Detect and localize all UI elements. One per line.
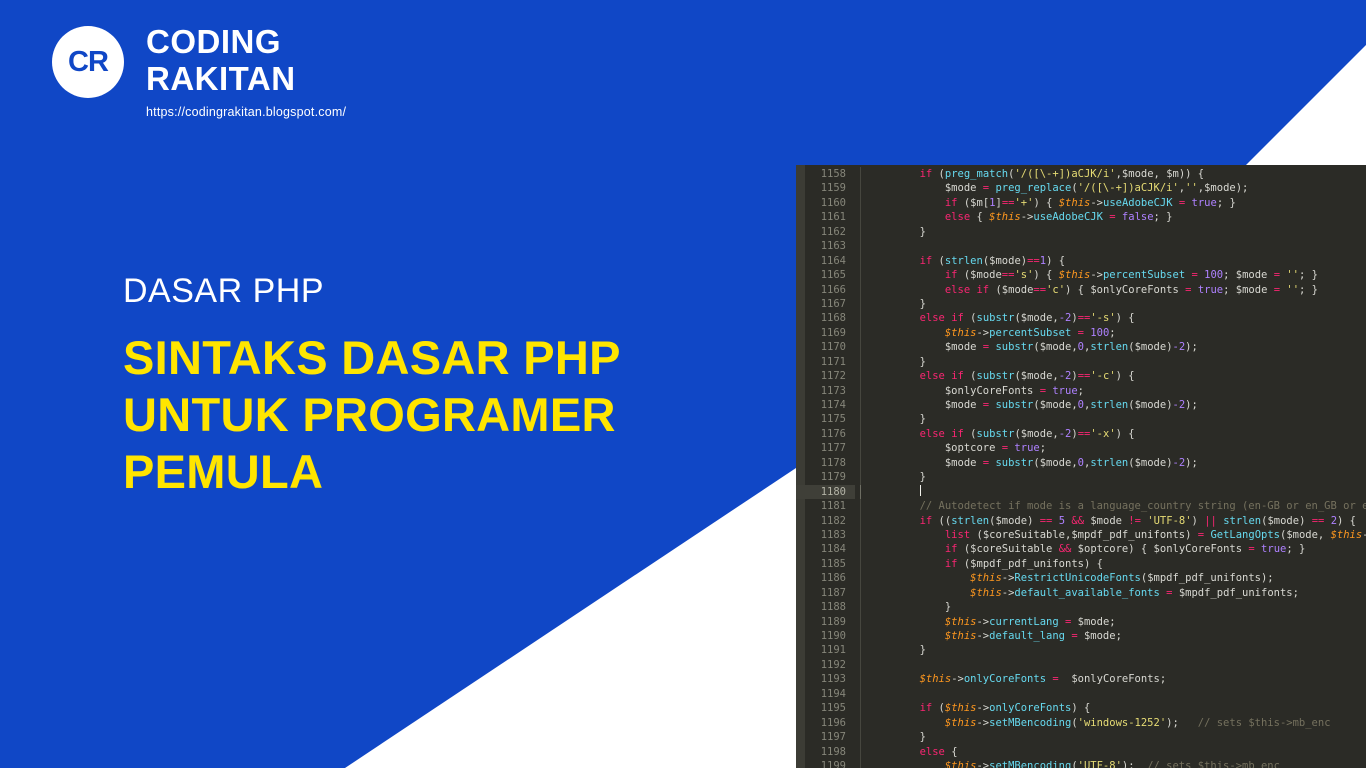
code-line[interactable]: 1167 }: [796, 297, 1366, 311]
code-text[interactable]: $this->setMBencoding('windows-1252'); //…: [869, 716, 1366, 730]
indent-guide: [855, 196, 869, 210]
line-number: 1193: [796, 672, 855, 686]
slide-canvas: CR CODING RAKITAN https://codingrakitan.…: [0, 0, 1366, 768]
code-line[interactable]: 1194: [796, 687, 1366, 701]
line-number: 1183: [796, 528, 855, 542]
code-line[interactable]: 1160 if ($m[1]=='+') { $this->useAdobeCJ…: [796, 196, 1366, 210]
line-number: 1160: [796, 196, 855, 210]
indent-guide: [855, 629, 869, 643]
line-number: 1164: [796, 254, 855, 268]
code-line[interactable]: 1170 $mode = substr($mode,0,strlen($mode…: [796, 340, 1366, 354]
indent-guide: [855, 687, 869, 701]
indent-guide: [855, 210, 869, 224]
page-title: SINTAKS DASAR PHP UNTUK PROGRAMER PEMULA: [123, 330, 763, 501]
line-number: 1175: [796, 412, 855, 426]
line-number: 1170: [796, 340, 855, 354]
line-number: 1169: [796, 326, 855, 340]
code-text[interactable]: $mode = preg_replace('/([\-+])aCJK/i',''…: [869, 181, 1366, 195]
code-text[interactable]: }: [869, 730, 1366, 744]
code-text[interactable]: if ((strlen($mode) == 5 && $mode != 'UTF…: [869, 514, 1366, 528]
code-text[interactable]: if ($mpdf_pdf_unifonts) {: [869, 557, 1366, 571]
code-line[interactable]: 1196 $this->setMBencoding('windows-1252'…: [796, 716, 1366, 730]
code-text[interactable]: $mode = substr($mode,0,strlen($mode)-2);: [869, 340, 1366, 354]
code-text[interactable]: }: [869, 355, 1366, 369]
code-text[interactable]: else { $this->useAdobeCJK = false; }: [869, 210, 1366, 224]
brand-logo: CR CODING RAKITAN https://codingrakitan.…: [52, 22, 346, 119]
code-text[interactable]: $mode = substr($mode,0,strlen($mode)-2);: [869, 456, 1366, 470]
indent-guide: [855, 398, 869, 412]
line-number: 1179: [796, 470, 855, 484]
code-text[interactable]: if (preg_match('/([\-+])aCJK/i',$mode, $…: [869, 167, 1366, 181]
indent-guide: [855, 571, 869, 585]
indent-guide: [855, 514, 869, 528]
code-line[interactable]: 1175 }: [796, 412, 1366, 426]
indent-guide: [855, 716, 869, 730]
code-line[interactable]: 1162 }: [796, 225, 1366, 239]
code-line[interactable]: 1182 if ((strlen($mode) == 5 && $mode !=…: [796, 514, 1366, 528]
indent-guide: [855, 528, 869, 542]
line-number: 1196: [796, 716, 855, 730]
indent-guide: [855, 586, 869, 600]
line-number: 1180: [796, 485, 855, 499]
code-line[interactable]: 1166 else if ($mode=='c') { $onlyCoreFon…: [796, 283, 1366, 297]
code-line[interactable]: 1164 if (strlen($mode)==1) {: [796, 254, 1366, 268]
brand-url: https://codingrakitan.blogspot.com/: [146, 105, 346, 119]
code-text[interactable]: else if ($mode=='c') { $onlyCoreFonts = …: [869, 283, 1366, 297]
code-line[interactable]: 1171 }: [796, 355, 1366, 369]
indent-guide: [855, 326, 869, 340]
code-text[interactable]: else {: [869, 745, 1366, 759]
code-line[interactable]: 1158 if (preg_match('/([\-+])aCJK/i',$mo…: [796, 167, 1366, 181]
line-number: 1171: [796, 355, 855, 369]
code-line[interactable]: 1165 if ($mode=='s') { $this->percentSub…: [796, 268, 1366, 282]
indent-guide: [855, 615, 869, 629]
code-text[interactable]: $this->setMBencoding('UTF-8'); // sets $…: [869, 759, 1366, 768]
code-line[interactable]: 1189 $this->currentLang = $mode;: [796, 615, 1366, 629]
code-editor-panel[interactable]: 1158 if (preg_match('/([\-+])aCJK/i',$mo…: [796, 165, 1366, 768]
line-number: 1161: [796, 210, 855, 224]
indent-guide: [855, 557, 869, 571]
code-line[interactable]: 1173 $onlyCoreFonts = true;: [796, 384, 1366, 398]
code-line[interactable]: 1178 $mode = substr($mode,0,strlen($mode…: [796, 456, 1366, 470]
logo-monogram-badge: CR: [52, 26, 124, 98]
code-line[interactable]: 1195 if ($this->onlyCoreFonts) {: [796, 701, 1366, 715]
indent-guide: [855, 239, 869, 253]
code-line[interactable]: 1174 $mode = substr($mode,0,strlen($mode…: [796, 398, 1366, 412]
code-line[interactable]: 1185 if ($mpdf_pdf_unifonts) {: [796, 557, 1366, 571]
line-number: 1176: [796, 427, 855, 441]
code-text[interactable]: $mode = substr($mode,0,strlen($mode)-2);: [869, 398, 1366, 412]
corner-triangle-top-right: [1246, 0, 1366, 165]
indent-guide: [855, 643, 869, 657]
code-text[interactable]: $this->default_lang = $mode;: [869, 629, 1366, 643]
line-number: 1191: [796, 643, 855, 657]
line-number: 1167: [796, 297, 855, 311]
indent-guide: [855, 600, 869, 614]
code-line[interactable]: 1180: [796, 485, 1366, 499]
line-number: 1187: [796, 586, 855, 600]
headline-kicker: DASAR PHP: [123, 274, 763, 308]
line-number: 1182: [796, 514, 855, 528]
indent-guide: [855, 470, 869, 484]
code-line[interactable]: 1191 }: [796, 643, 1366, 657]
code-line[interactable]: 1199 $this->setMBencoding('UTF-8'); // s…: [796, 759, 1366, 768]
code-text[interactable]: list ($coreSuitable,$mpdf_pdf_unifonts) …: [869, 528, 1366, 542]
indent-guide: [855, 384, 869, 398]
indent-guide: [855, 441, 869, 455]
indent-guide: [855, 759, 869, 768]
code-line[interactable]: 1159 $mode = preg_replace('/([\-+])aCJK/…: [796, 181, 1366, 195]
line-number: 1168: [796, 311, 855, 325]
code-line[interactable]: 1163: [796, 239, 1366, 253]
indent-guide: [855, 181, 869, 195]
code-text[interactable]: if ($m[1]=='+') { $this->useAdobeCJK = t…: [869, 196, 1366, 210]
code-text[interactable]: else if (substr($mode,-2)=='-c') {: [869, 369, 1366, 383]
indent-guide: [855, 369, 869, 383]
indent-guide: [855, 268, 869, 282]
indent-guide: [855, 283, 869, 297]
line-number: 1185: [796, 557, 855, 571]
indent-guide: [855, 412, 869, 426]
brand-text-block: CODING RAKITAN https://codingrakitan.blo…: [146, 22, 346, 119]
code-line[interactable]: 1197 }: [796, 730, 1366, 744]
indent-guide: [855, 672, 869, 686]
code-text[interactable]: }: [869, 643, 1366, 657]
indent-guide: [855, 658, 869, 672]
logo-monogram-text: CR: [68, 48, 108, 77]
code-line[interactable]: 1190 $this->default_lang = $mode;: [796, 629, 1366, 643]
code-text[interactable]: $this->default_available_fonts = $mpdf_p…: [869, 586, 1366, 600]
code-text[interactable]: $this->onlyCoreFonts = $onlyCoreFonts;: [869, 672, 1366, 686]
code-line[interactable]: 1198 else {: [796, 745, 1366, 759]
code-line-list: 1158 if (preg_match('/([\-+])aCJK/i',$mo…: [796, 167, 1366, 768]
code-text[interactable]: [869, 658, 1366, 672]
code-line[interactable]: 1172 else if (substr($mode,-2)=='-c') {: [796, 369, 1366, 383]
indent-guide: [855, 311, 869, 325]
line-number: 1158: [796, 167, 855, 181]
indent-guide: [855, 254, 869, 268]
line-number: 1178: [796, 456, 855, 470]
code-text[interactable]: $onlyCoreFonts = true;: [869, 384, 1366, 398]
line-number: 1177: [796, 441, 855, 455]
code-text[interactable]: if ($coreSuitable && $optcore) { $onlyCo…: [869, 542, 1366, 556]
code-text[interactable]: [869, 239, 1366, 253]
indent-guide: [855, 485, 869, 499]
indent-guide: [855, 340, 869, 354]
line-number: 1163: [796, 239, 855, 253]
indent-guide: [855, 225, 869, 239]
indent-guide: [855, 297, 869, 311]
code-line[interactable]: 1169 $this->percentSubset = 100;: [796, 326, 1366, 340]
line-number: 1189: [796, 615, 855, 629]
indent-guide: [855, 355, 869, 369]
code-line[interactable]: 1179 }: [796, 470, 1366, 484]
code-line[interactable]: 1183 list ($coreSuitable,$mpdf_pdf_unifo…: [796, 528, 1366, 542]
indent-guide: [855, 499, 869, 513]
code-line[interactable]: 1161 else { $this->useAdobeCJK = false; …: [796, 210, 1366, 224]
line-number: 1197: [796, 730, 855, 744]
line-number: 1194: [796, 687, 855, 701]
code-text[interactable]: $this->percentSubset = 100;: [869, 326, 1366, 340]
line-number: 1195: [796, 701, 855, 715]
code-text[interactable]: }: [869, 412, 1366, 426]
line-number: 1181: [796, 499, 855, 513]
brand-name: CODING RAKITAN: [146, 24, 346, 98]
line-number: 1188: [796, 600, 855, 614]
code-line[interactable]: 1188 }: [796, 600, 1366, 614]
line-number: 1199: [796, 759, 855, 768]
code-text[interactable]: if (strlen($mode)==1) {: [869, 254, 1366, 268]
code-line[interactable]: 1177 $optcore = true;: [796, 441, 1366, 455]
indent-guide: [855, 456, 869, 470]
code-text[interactable]: [869, 485, 1366, 499]
headline-block: DASAR PHP SINTAKS DASAR PHP UNTUK PROGRA…: [123, 274, 763, 501]
code-text[interactable]: else if (substr($mode,-2)=='-s') {: [869, 311, 1366, 325]
code-text[interactable]: }: [869, 297, 1366, 311]
code-text[interactable]: if ($this->onlyCoreFonts) {: [869, 701, 1366, 715]
line-number: 1173: [796, 384, 855, 398]
line-number: 1190: [796, 629, 855, 643]
code-line[interactable]: 1184 if ($coreSuitable && $optcore) { $o…: [796, 542, 1366, 556]
code-line[interactable]: 1186 $this->RestrictUnicodeFonts($mpdf_p…: [796, 571, 1366, 585]
code-line[interactable]: 1168 else if (substr($mode,-2)=='-s') {: [796, 311, 1366, 325]
line-number: 1166: [796, 283, 855, 297]
indent-guide: [855, 542, 869, 556]
indent-guide: [855, 745, 869, 759]
code-line[interactable]: 1181 // Autodetect if mode is a language…: [796, 499, 1366, 513]
code-line[interactable]: 1176 else if (substr($mode,-2)=='-x') {: [796, 427, 1366, 441]
code-line[interactable]: 1192: [796, 658, 1366, 672]
line-number: 1165: [796, 268, 855, 282]
code-text[interactable]: [869, 687, 1366, 701]
code-text[interactable]: }: [869, 600, 1366, 614]
text-caret: [920, 485, 921, 496]
line-number: 1172: [796, 369, 855, 383]
code-line[interactable]: 1187 $this->default_available_fonts = $m…: [796, 586, 1366, 600]
line-number: 1162: [796, 225, 855, 239]
indent-guide: [855, 167, 869, 181]
code-text[interactable]: }: [869, 470, 1366, 484]
line-number: 1192: [796, 658, 855, 672]
code-line[interactable]: 1193 $this->onlyCoreFonts = $onlyCoreFon…: [796, 672, 1366, 686]
indent-guide: [855, 701, 869, 715]
line-number: 1186: [796, 571, 855, 585]
line-number: 1174: [796, 398, 855, 412]
indent-guide: [855, 427, 869, 441]
code-text[interactable]: $this->RestrictUnicodeFonts($mpdf_pdf_un…: [869, 571, 1366, 585]
code-text[interactable]: }: [869, 225, 1366, 239]
code-text[interactable]: else if (substr($mode,-2)=='-x') {: [869, 427, 1366, 441]
code-text[interactable]: $this->currentLang = $mode;: [869, 615, 1366, 629]
code-text[interactable]: $optcore = true;: [869, 441, 1366, 455]
code-text[interactable]: // Autodetect if mode is a language_coun…: [869, 499, 1366, 513]
code-text[interactable]: if ($mode=='s') { $this->percentSubset =…: [869, 268, 1366, 282]
line-number: 1159: [796, 181, 855, 195]
line-number: 1198: [796, 745, 855, 759]
indent-guide: [855, 730, 869, 744]
line-number: 1184: [796, 542, 855, 556]
